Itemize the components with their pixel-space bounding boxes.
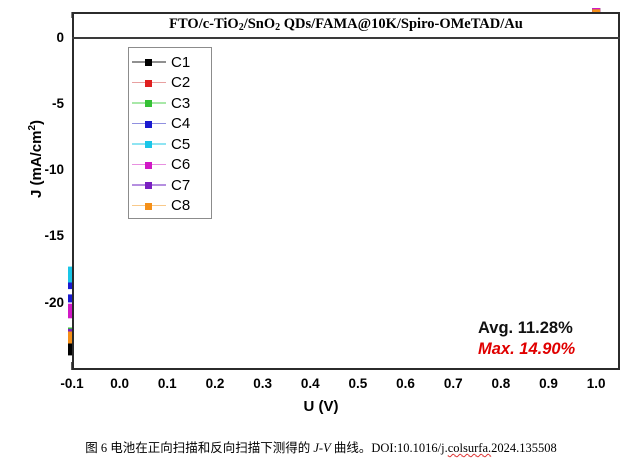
legend-label: C3 <box>166 95 190 112</box>
legend-item-c4[interactable]: C4 <box>129 114 211 135</box>
y-tick-label: -10 <box>20 162 64 177</box>
legend-item-c6[interactable]: C6 <box>129 155 211 176</box>
x-axis-label: U (V) <box>0 398 642 415</box>
x-tick-label: 0.2 <box>190 376 240 391</box>
legend-label: C2 <box>166 74 190 91</box>
legend-symbol-c8 <box>132 200 166 212</box>
x-tick-label: 0.1 <box>142 376 192 391</box>
figure-caption: 图 6 电池在正向扫描和反向扫描下测得的 J-V 曲线。DOI:10.1016/… <box>0 437 642 456</box>
legend-label: C6 <box>166 156 190 173</box>
title-seg-1: FTO/c-TiO <box>169 16 239 32</box>
x-tick-label: 1.0 <box>571 376 621 391</box>
x-tick-label: 0.8 <box>476 376 526 391</box>
legend-marker-icon <box>145 80 152 87</box>
legend-symbol-c6 <box>132 159 166 171</box>
max-efficiency-annotation: Max. 14.90% <box>478 340 575 359</box>
title-seg-3: QDs/FAMA@10K/Spiro-OMeTAD/Au <box>280 16 523 32</box>
legend-item-c7[interactable]: C7 <box>129 175 211 196</box>
y-tick-label: 0 <box>20 30 64 45</box>
legend-item-c2[interactable]: C2 <box>129 73 211 94</box>
legend-item-c5[interactable]: C5 <box>129 134 211 155</box>
legend-symbol-c7 <box>132 179 166 191</box>
legend-marker-icon <box>145 182 152 189</box>
plot-title-box: FTO/c-TiO2/SnO2 QDs/FAMA@10K/Spiro-OMeTA… <box>72 12 620 39</box>
legend-label: C5 <box>166 136 190 153</box>
y-tick-label: -5 <box>20 96 64 111</box>
legend-item-c8[interactable]: C8 <box>129 196 211 217</box>
legend-label: C7 <box>166 177 190 194</box>
legend-label: C1 <box>166 54 190 71</box>
legend-marker-icon <box>145 121 152 128</box>
legend-item-c3[interactable]: C3 <box>129 93 211 114</box>
caption-jv: J-V <box>313 441 330 455</box>
jv-chart-figure: FTO/c-TiO2/SnO2 QDs/FAMA@10K/Spiro-OMeTA… <box>0 0 642 430</box>
y-tick-label: -20 <box>20 295 64 310</box>
legend-marker-icon <box>145 141 152 148</box>
caption-mid: 曲线。DOI:10.1016/j. <box>331 441 448 455</box>
y-tick-label: -15 <box>20 228 64 243</box>
legend-label: C8 <box>166 197 190 214</box>
x-tick-label: 0.4 <box>285 376 335 391</box>
x-tick-label: 0.5 <box>333 376 383 391</box>
x-tick-label: 0.9 <box>524 376 574 391</box>
legend-label: C4 <box>166 115 190 132</box>
legend-marker-icon <box>145 59 152 66</box>
x-tick-label: -0.1 <box>47 376 97 391</box>
caption-pre: 图 6 电池在正向扫描和反向扫描下测得的 <box>85 441 313 455</box>
title-seg-2: /SnO <box>244 16 275 32</box>
legend-marker-icon <box>145 162 152 169</box>
average-efficiency-annotation: Avg. 11.28% <box>478 319 573 338</box>
legend-symbol-c2 <box>132 77 166 89</box>
x-tick-label: 0.0 <box>95 376 145 391</box>
legend-item-c1[interactable]: C1 <box>129 52 211 73</box>
caption-post: 2024.135508 <box>491 441 557 455</box>
x-tick-label: 0.3 <box>238 376 288 391</box>
legend-symbol-c5 <box>132 138 166 150</box>
x-tick-label: 0.7 <box>428 376 478 391</box>
figure-screenshot: FTO/c-TiO2/SnO2 QDs/FAMA@10K/Spiro-OMeTA… <box>0 0 642 476</box>
legend-marker-icon <box>145 203 152 210</box>
legend-symbol-c4 <box>132 118 166 130</box>
legend-symbol-c3 <box>132 97 166 109</box>
legend-symbol-c1 <box>132 56 166 68</box>
legend-marker-icon <box>145 100 152 107</box>
plot-title: FTO/c-TiO2/SnO2 QDs/FAMA@10K/Spiro-OMeTA… <box>169 16 523 33</box>
x-tick-label: 0.6 <box>381 376 431 391</box>
caption-wavy: colsurfa. <box>448 441 491 455</box>
chart-legend[interactable]: C1C2C3C4C5C6C7C8 <box>128 47 212 219</box>
